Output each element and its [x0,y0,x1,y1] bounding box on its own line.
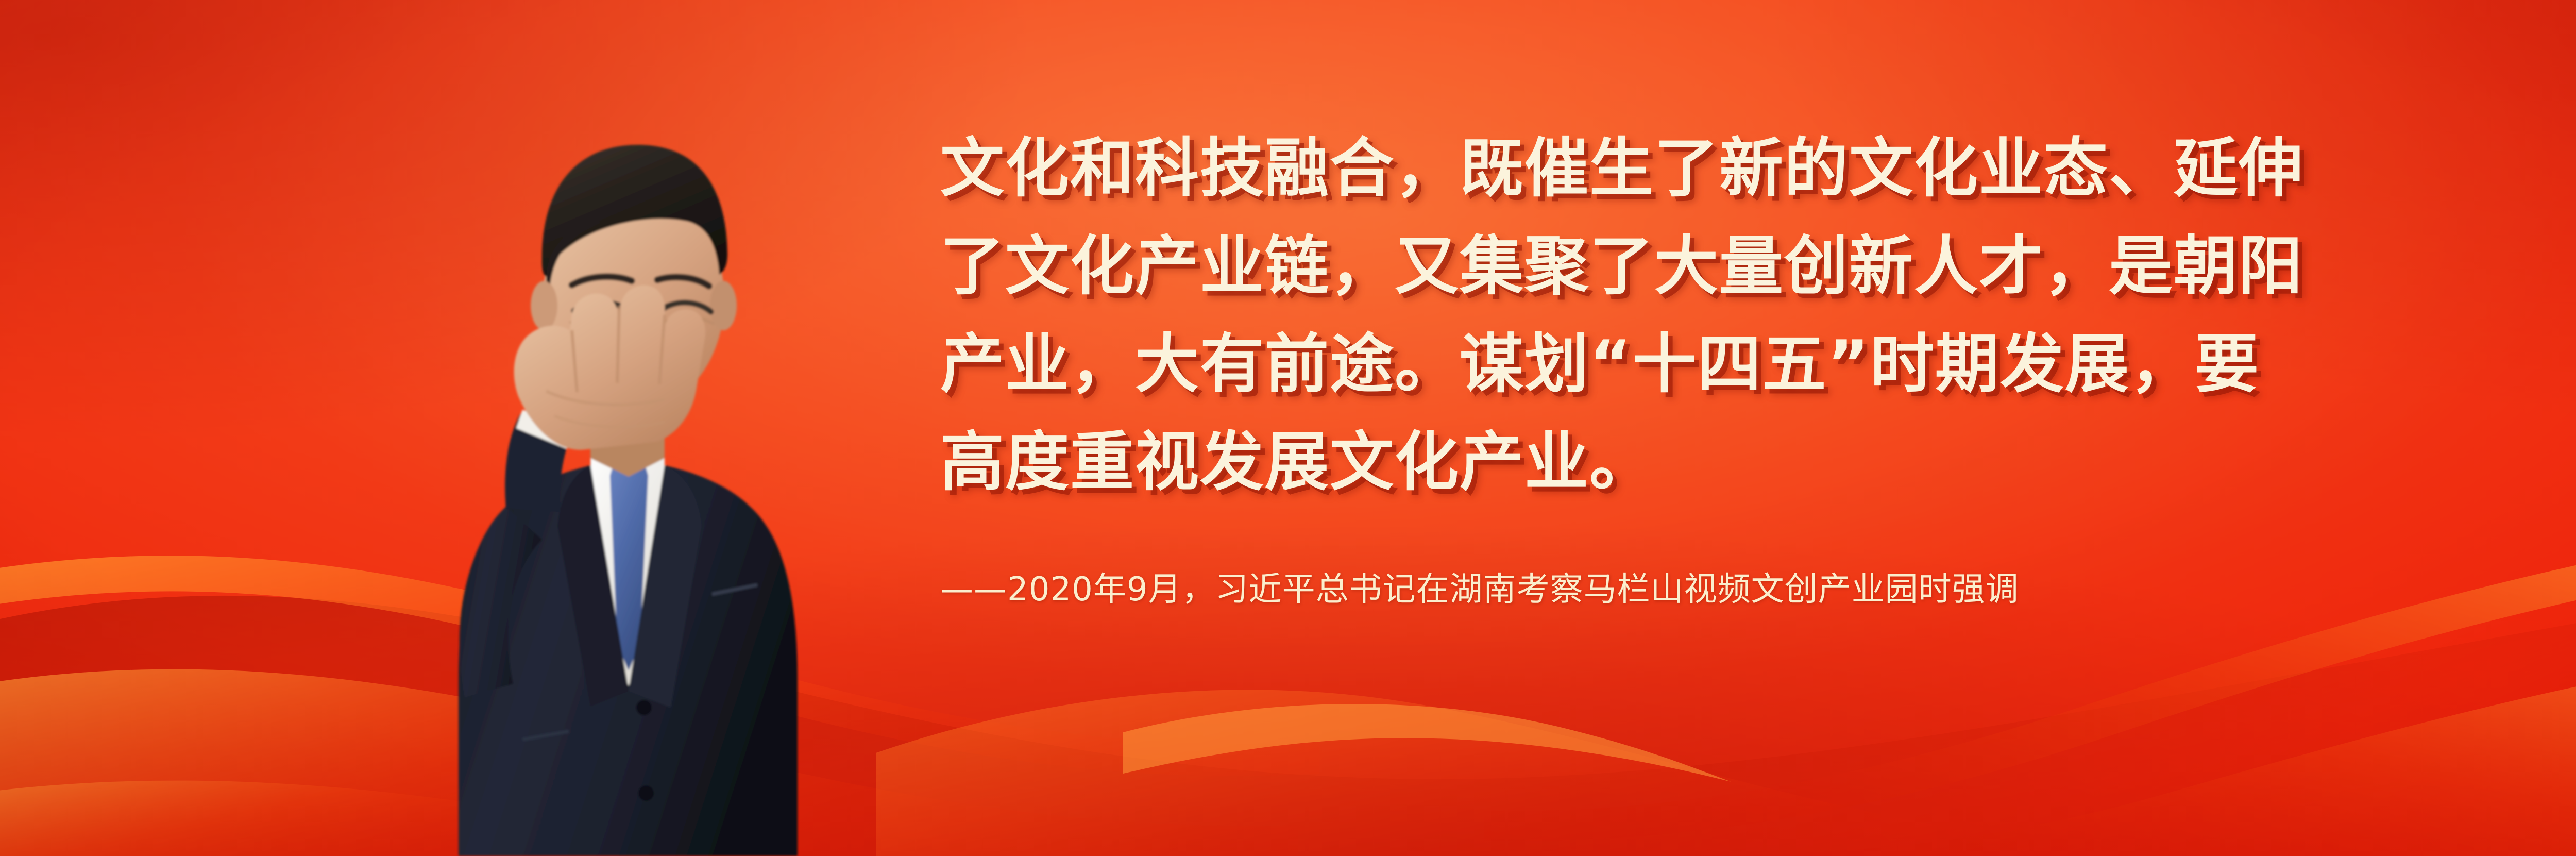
quote-block: 文化和科技融合，既催生了新的文化业态、延伸 了文化产业链，又集聚了大量创新人才，… [940,120,2522,606]
quote-attribution: ——2020年9月，习近平总书记在湖南考察马栏山视频文创产业园时强调 [940,573,2522,606]
portrait-figure [304,73,876,856]
quote-line-1: 文化和科技融合，既催生了新的文化业态、延伸 [940,120,2522,217]
quote-line-3: 产业，大有前途。谋划“十四五”时期发展，要 [940,315,2522,413]
quote-line-4: 高度重视发展文化产业。 [940,413,2522,511]
banner-stage: 文化和科技融合，既催生了新的文化业态、延伸 了文化产业链，又集聚了大量创新人才，… [0,0,2576,856]
quote-line-2: 了文化产业链，又集聚了大量创新人才，是朝阳 [940,217,2522,315]
